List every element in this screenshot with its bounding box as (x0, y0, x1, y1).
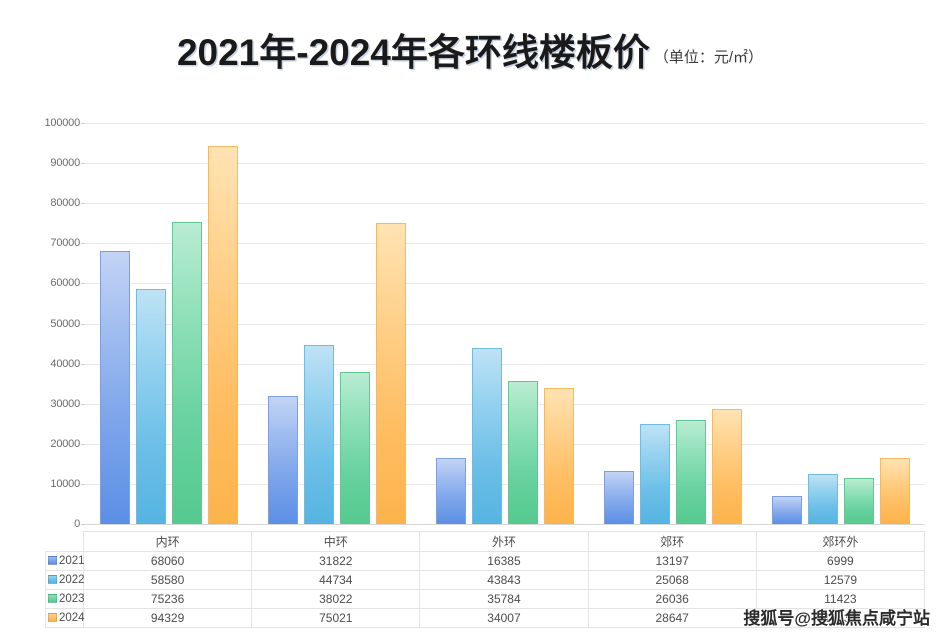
plot-area: 0100002000030000400005000060000700008000… (0, 100, 940, 530)
bar-2023-郊环[interactable] (676, 420, 706, 524)
y-axis-tick-label: 20000 (4, 438, 80, 450)
bar-2024-郊环外[interactable] (880, 458, 910, 524)
table-row: 2021680603182216385131976999 (46, 552, 925, 571)
y-axis-tick-label: 60000 (4, 277, 80, 289)
bar-2021-中环[interactable] (268, 396, 298, 524)
table-column-header: 郊环外 (756, 532, 924, 552)
y-axis-tick-label: 30000 (4, 398, 80, 410)
bar-2022-中环[interactable] (304, 345, 334, 524)
y-axis-tick-label: 70000 (4, 237, 80, 249)
table-cell: 94329 (84, 609, 252, 628)
table-cell: 25068 (588, 571, 756, 590)
bar-2024-中环[interactable] (376, 223, 406, 524)
gridline (85, 524, 925, 525)
table-cell: 28647 (588, 609, 756, 628)
table-cell: 75236 (84, 590, 252, 609)
y-axis-tick-label: 90000 (4, 157, 80, 169)
table-column-header: 中环 (252, 532, 420, 552)
bar-2022-郊环外[interactable] (808, 474, 838, 524)
legend-swatch-icon (48, 594, 57, 603)
bar-2023-郊环外[interactable] (844, 478, 874, 524)
table-cell: 75021 (252, 609, 420, 628)
table-cell: 16385 (420, 552, 588, 571)
table-cell: 38022 (252, 590, 420, 609)
bar-2021-外环[interactable] (436, 458, 466, 524)
legend-label: 2021 (59, 555, 85, 567)
bar-group (757, 123, 925, 524)
table-cell: 34007 (420, 609, 588, 628)
legend-label: 2022 (59, 574, 85, 586)
table-cell: 44734 (252, 571, 420, 590)
bar-2024-内环[interactable] (208, 146, 238, 524)
bar-2023-内环[interactable] (172, 222, 202, 524)
legend-swatch-icon (48, 556, 57, 565)
table-cell: 12579 (756, 571, 924, 590)
bar-2021-郊环[interactable] (604, 471, 634, 524)
y-axis-tick-label: 40000 (4, 358, 80, 370)
table-cell: 13197 (588, 552, 756, 571)
legend-item-2022[interactable]: 2022 (46, 571, 84, 590)
chart-page: 2021年-2024年各环线楼板价（单位：元/㎡） 01000020000300… (0, 0, 940, 635)
bar-group (421, 123, 589, 524)
bar-2022-内环[interactable] (136, 289, 166, 524)
bar-2024-郊环[interactable] (712, 409, 742, 524)
legend-item-2021[interactable]: 2021 (46, 552, 84, 571)
bar-2022-外环[interactable] (472, 348, 502, 524)
table-column-header: 外环 (420, 532, 588, 552)
page-title: 2021年-2024年各环线楼板价 (177, 32, 650, 73)
table-cell: 31822 (252, 552, 420, 571)
table-row: 20225858044734438432506812579 (46, 571, 925, 590)
bar-2022-郊环[interactable] (640, 424, 670, 525)
legend-item-2023[interactable]: 2023 (46, 590, 84, 609)
legend-label: 2023 (59, 593, 85, 605)
bar-2021-郊环外[interactable] (772, 496, 802, 524)
table-header-row: 内环中环外环郊环郊环外 (46, 532, 925, 552)
y-axis: 0100002000030000400005000060000700008000… (0, 123, 80, 524)
bar-group (253, 123, 421, 524)
legend-swatch-icon (48, 575, 57, 584)
table-cell: 68060 (84, 552, 252, 571)
bar-2023-外环[interactable] (508, 381, 538, 525)
table-cell: 26036 (588, 590, 756, 609)
y-axis-tick-label: 10000 (4, 478, 80, 490)
y-axis-tick-label: 80000 (4, 197, 80, 209)
y-axis-tick-label: 100000 (4, 117, 80, 129)
table-corner-cell (46, 532, 84, 552)
table-column-header: 内环 (84, 532, 252, 552)
bar-2024-外环[interactable] (544, 388, 574, 524)
legend-swatch-icon (48, 613, 57, 622)
title-unit-label: （单位：元/㎡） (654, 49, 763, 66)
watermark: 搜狐号@搜狐焦点咸宁站 (743, 604, 930, 629)
legend-label: 2024 (59, 612, 85, 624)
table-cell: 35784 (420, 590, 588, 609)
y-axis-tick-label: 0 (4, 518, 80, 530)
legend-item-2024[interactable]: 2024 (46, 609, 84, 628)
bar-groups (85, 123, 925, 524)
bar-2021-内环[interactable] (100, 251, 130, 524)
table-cell: 43843 (420, 571, 588, 590)
table-cell: 58580 (84, 571, 252, 590)
bar-group (589, 123, 757, 524)
chart-title-row: 2021年-2024年各环线楼板价（单位：元/㎡） (0, 22, 940, 76)
bar-group (85, 123, 253, 524)
bar-2023-中环[interactable] (340, 372, 370, 525)
table-cell: 6999 (756, 552, 924, 571)
y-axis-tick-label: 50000 (4, 318, 80, 330)
table-column-header: 郊环 (588, 532, 756, 552)
